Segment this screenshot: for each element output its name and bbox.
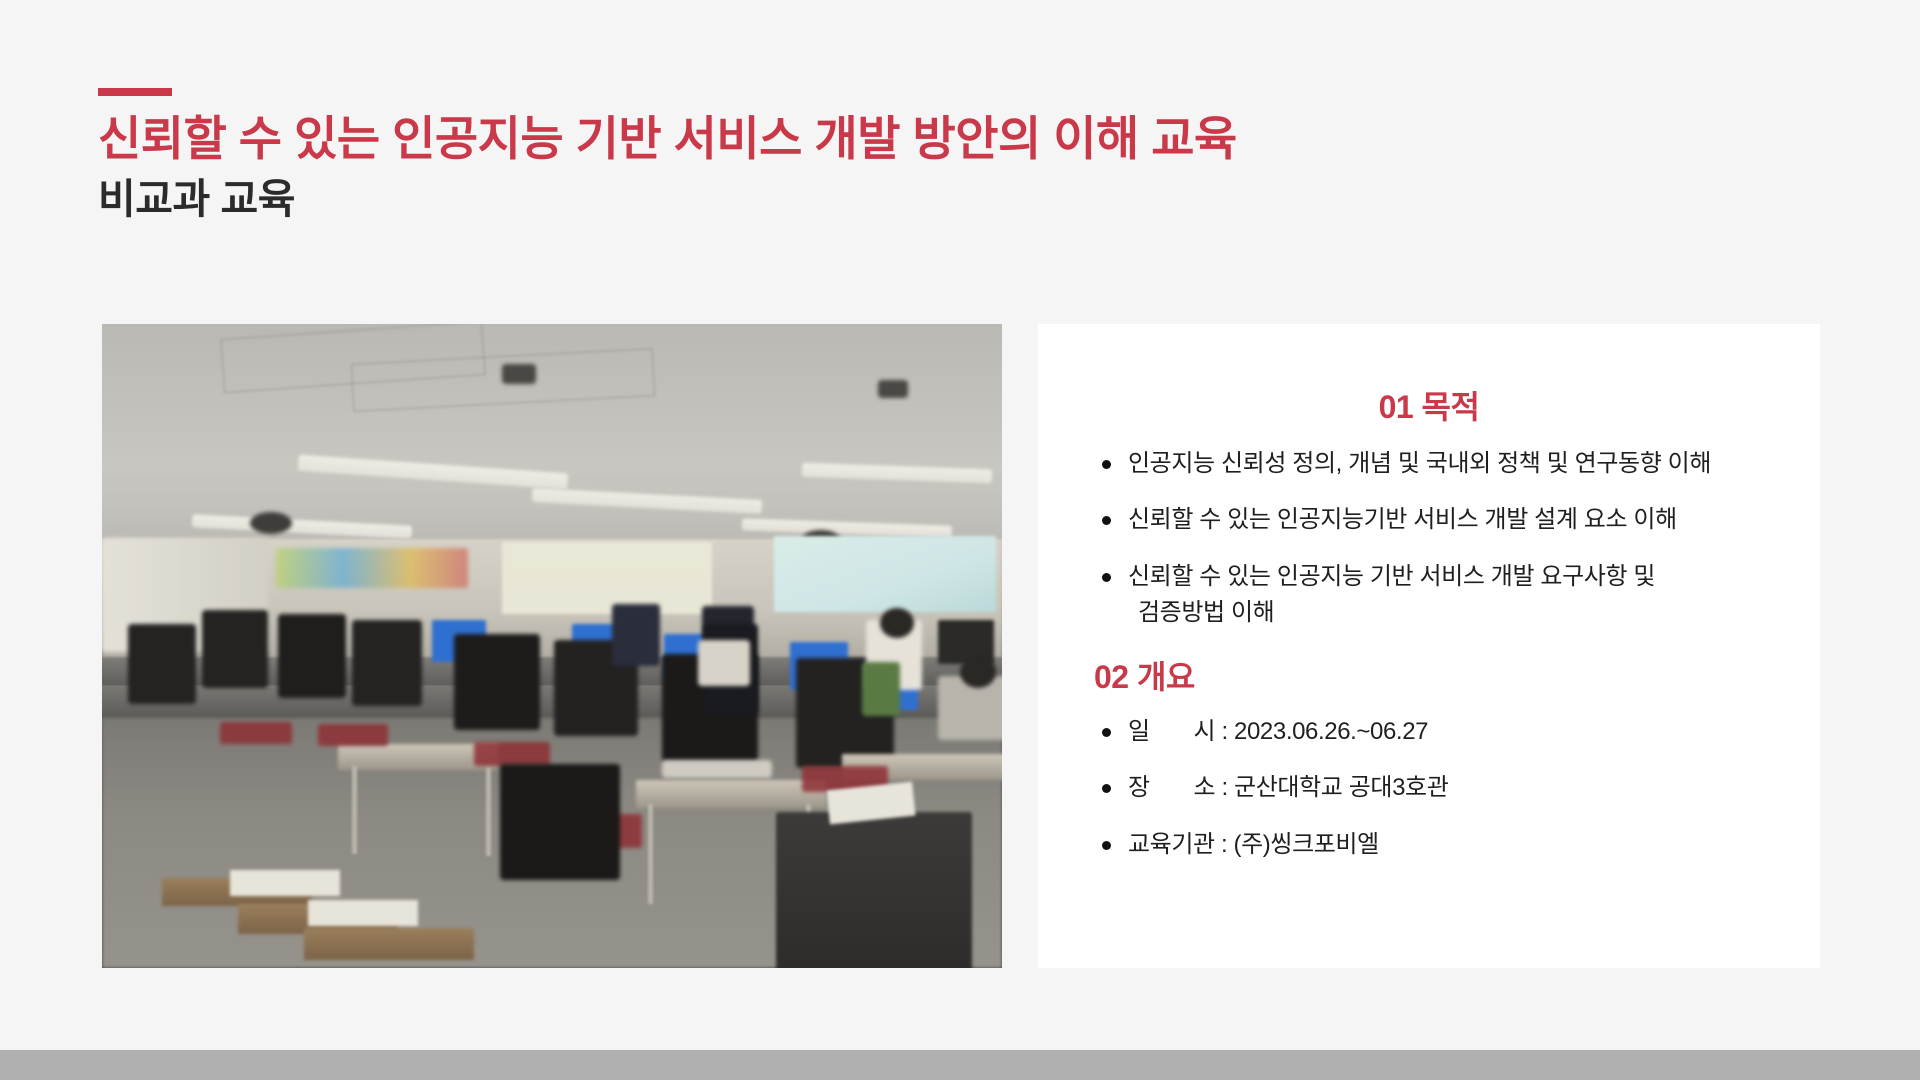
list-item: 신뢰할 수 있는 인공지능기반 서비스 개발 설계 요소 이해 xyxy=(1094,502,1764,538)
paper-icon xyxy=(308,900,418,926)
chair-icon xyxy=(500,764,620,880)
front-table-icon xyxy=(304,928,474,960)
list-item: 일 시 : 2023.06.26.~06.27 xyxy=(1094,714,1764,750)
classroom-photo xyxy=(102,324,1002,968)
chair-seat-icon xyxy=(220,722,292,744)
ceiling-speaker-icon xyxy=(878,380,908,398)
chair-icon xyxy=(128,624,196,704)
overview-bullet-list: 일 시 : 2023.06.26.~06.27 장 소 : 군산대학교 공대3호… xyxy=(1094,714,1764,863)
person-icon xyxy=(880,608,914,638)
chair-icon xyxy=(454,634,540,730)
slide-root: 신뢰할 수 있는 인공지능 기반 서비스 개발 방안의 이해 교육 비교과 교육 xyxy=(0,0,1920,1050)
person-icon xyxy=(960,656,996,688)
ceiling-speaker-icon xyxy=(502,364,536,384)
desk-leg-icon xyxy=(352,766,357,854)
chair-icon xyxy=(352,620,422,706)
paper-icon xyxy=(230,870,340,896)
person-icon xyxy=(698,640,750,686)
cabinet-icon xyxy=(776,812,972,968)
desk-icon xyxy=(636,780,826,808)
classroom-photo-image xyxy=(102,324,1002,968)
whiteboard-icon xyxy=(502,542,712,614)
page-subtitle: 비교과 교육 xyxy=(98,173,1698,226)
person-icon xyxy=(862,662,900,716)
list-item-text-location: 장 소 : 군산대학교 공대3호관 xyxy=(1128,774,1448,801)
accent-rule-decoration xyxy=(98,88,172,96)
info-card: 01 목적 인공지능 신뢰성 정의, 개념 및 국내외 정책 및 연구동향 이해… xyxy=(1038,324,1820,968)
chair-icon xyxy=(278,614,346,698)
section-heading-overview: 02 개요 xyxy=(1094,652,1764,698)
page-header: 신뢰할 수 있는 인공지능 기반 서비스 개발 방안의 이해 교육 비교과 교육 xyxy=(98,88,1698,227)
list-item: 장 소 : 군산대학교 공대3호관 xyxy=(1094,770,1764,806)
ceiling-light-icon xyxy=(192,514,412,538)
ceiling-light-icon xyxy=(532,488,762,514)
chair-seat-icon xyxy=(474,742,550,766)
list-item-text: 신뢰할 수 있는 인공지능기반 서비스 개발 설계 요소 이해 xyxy=(1128,506,1677,533)
list-item: 교육기관 : (주)씽크포비엘 xyxy=(1094,827,1764,863)
list-item-text: 인공지능 신뢰성 정의, 개념 및 국내외 정책 및 연구동향 이해 xyxy=(1128,450,1711,477)
list-item-text: 신뢰할 수 있는 인공지능 기반 서비스 개발 요구사항 및 xyxy=(1128,563,1655,590)
ceiling-light-icon xyxy=(298,455,568,490)
projection-screen-icon xyxy=(774,536,996,612)
ceiling-projector-icon xyxy=(250,512,292,534)
content-area: 01 목적 인공지능 신뢰성 정의, 개념 및 국내외 정책 및 연구동향 이해… xyxy=(102,324,1820,968)
list-item: 인공지능 신뢰성 정의, 개념 및 국내외 정책 및 연구동향 이해 xyxy=(1094,446,1764,482)
list-item-text-organization: 교육기관 : (주)씽크포비엘 xyxy=(1128,831,1379,858)
ceiling-light-icon xyxy=(742,518,952,537)
page-title: 신뢰할 수 있는 인공지능 기반 서비스 개발 방안의 이해 교육 xyxy=(98,110,1698,167)
section-heading-objective: 01 목적 xyxy=(1094,382,1764,428)
desk-leg-icon xyxy=(648,804,653,904)
desk-leg-icon xyxy=(486,766,491,856)
bottom-bar xyxy=(0,1050,1920,1080)
keyboard-icon xyxy=(662,760,772,778)
objective-bullet-list: 인공지능 신뢰성 정의, 개념 및 국내외 정책 및 연구동향 이해 신뢰할 수… xyxy=(1094,446,1764,632)
wall-banner-icon xyxy=(276,548,468,588)
ceiling-light-icon xyxy=(802,463,992,484)
person-icon xyxy=(612,604,660,666)
chair-seat-icon xyxy=(318,724,388,746)
list-item-text-continued: 검증방법 이해 xyxy=(1128,595,1764,631)
list-item: 신뢰할 수 있는 인공지능 기반 서비스 개발 요구사항 및 검증방법 이해 xyxy=(1094,559,1764,632)
list-item-text-date: 일 시 : 2023.06.26.~06.27 xyxy=(1128,718,1428,745)
chair-icon xyxy=(202,610,268,688)
